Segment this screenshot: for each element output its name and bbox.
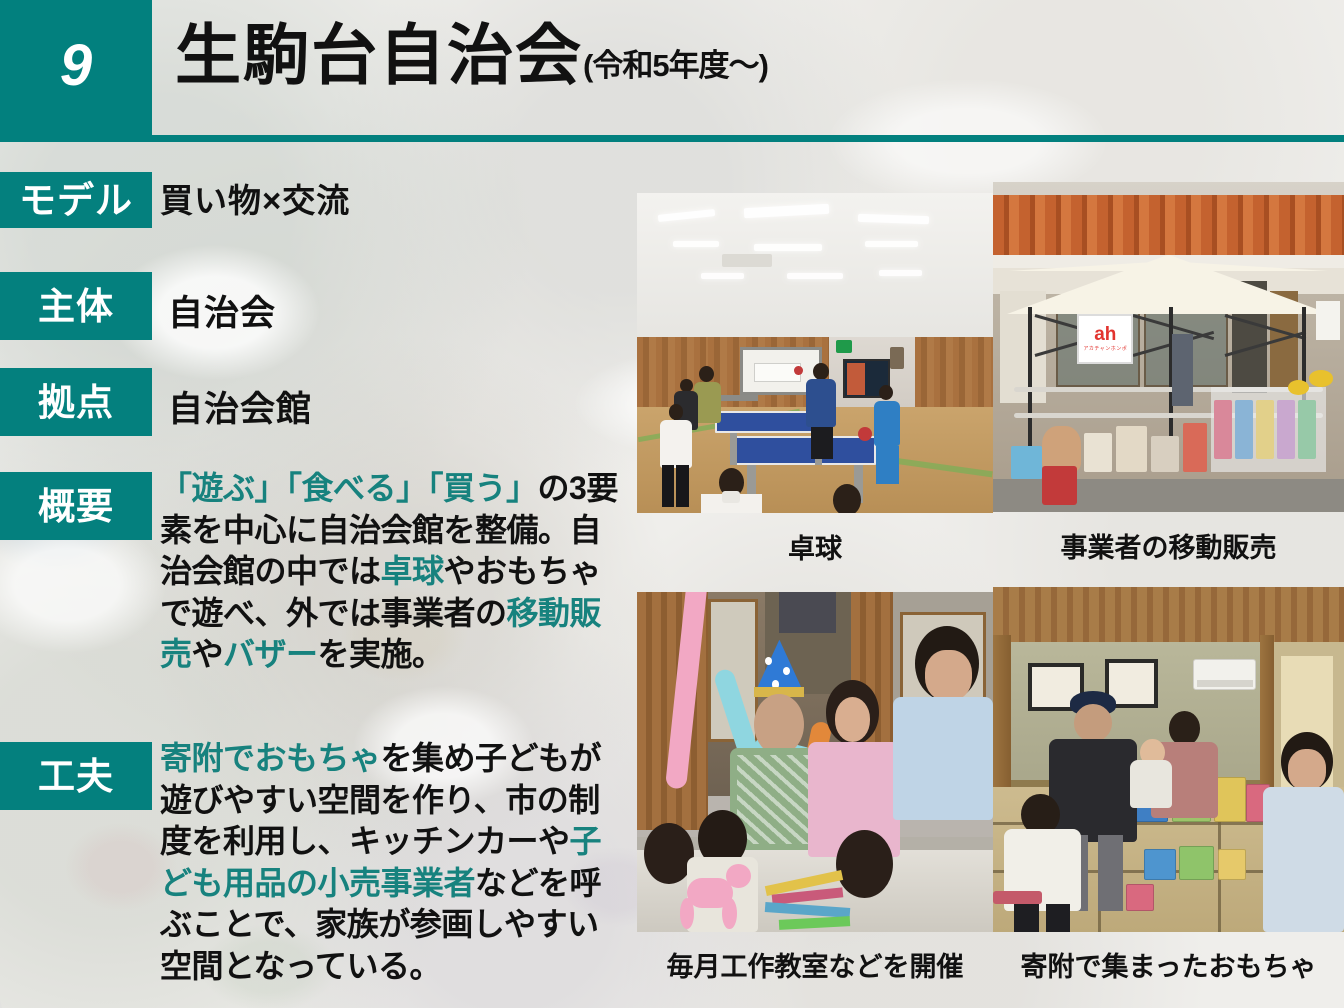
info-column: モデル 買い物×交流 主体 自治会 拠点 自治会館 概要 「遊ぶ」「食べる」「買… (0, 142, 632, 1008)
text-run: を実施。 (318, 636, 444, 672)
photo-caption-donated-toys: 寄附で集まったおもちゃ (993, 945, 1344, 984)
photo-cell-table-tennis: 卓球 (637, 193, 993, 603)
label-overview: 概要 (0, 472, 152, 540)
slide-number-badge: 9 (0, 0, 152, 136)
photo-cell-mobile-sales: ah アカチャンホンポ (993, 182, 1344, 603)
photo-donated-toys[interactable] (993, 587, 1344, 932)
label-model: モデル (0, 172, 152, 228)
photo-table-tennis[interactable] (637, 193, 993, 513)
value-model: 買い物×交流 (160, 174, 350, 222)
label-base: 拠点 (0, 368, 152, 436)
photo-grid: 卓球 (632, 142, 1344, 1008)
photo-caption-mobile-sales: 事業者の移動販売 (993, 526, 1344, 565)
label-ingenuity: 工夫 (0, 742, 152, 810)
page-title: 生駒台自治会 (175, 22, 583, 88)
photo-caption-craft-workshop: 毎月工作教室などを開催 (637, 945, 993, 984)
header-divider (0, 135, 1344, 142)
photo-caption-table-tennis: 卓球 (637, 527, 993, 566)
slide-page: 9 生駒台自治会 (令和5年度〜) モデル 買い物×交流 主体 自治会 拠点 自… (0, 0, 1344, 1008)
highlight-run: 寄附でおもちゃ (160, 740, 381, 776)
highlight-run: バザー (223, 636, 318, 672)
value-base: 自治会館 (168, 381, 312, 432)
photo-cell-craft-workshop: 毎月工作教室などを開催 (637, 592, 993, 1008)
slide-number: 9 (60, 37, 92, 95)
brand-subtext: アカチャンホンポ (1083, 345, 1127, 352)
highlight-run: 卓球 (381, 553, 444, 589)
value-subject: 自治会 (168, 285, 276, 336)
brand-mark: ah (1094, 325, 1116, 344)
ingenuity-text: 寄附でおもちゃを集め子どもが遊びやすい空間を作り、市の制度を利用し、キッチンカー… (160, 738, 626, 988)
overview-text: 「遊ぶ」「食べる」「買う」の3要素を中心に自治会館を整備。自治会館の中では卓球や… (160, 468, 626, 676)
photo-cell-donated-toys: 寄附で集まったおもちゃ (993, 587, 1344, 1008)
slide-header: 9 生駒台自治会 (令和5年度〜) (0, 0, 1344, 136)
page-subtitle: (令和5年度〜) (583, 50, 768, 88)
label-subject: 主体 (0, 272, 152, 340)
photo-mobile-sales[interactable]: ah アカチャンホンポ (993, 182, 1344, 512)
highlight-run: 「遊ぶ」「食べる」「買う」 (160, 470, 538, 506)
title-group: 生駒台自治会 (令和5年度〜) (175, 22, 768, 88)
photo-craft-workshop[interactable] (637, 592, 993, 932)
text-run: や (192, 636, 224, 672)
